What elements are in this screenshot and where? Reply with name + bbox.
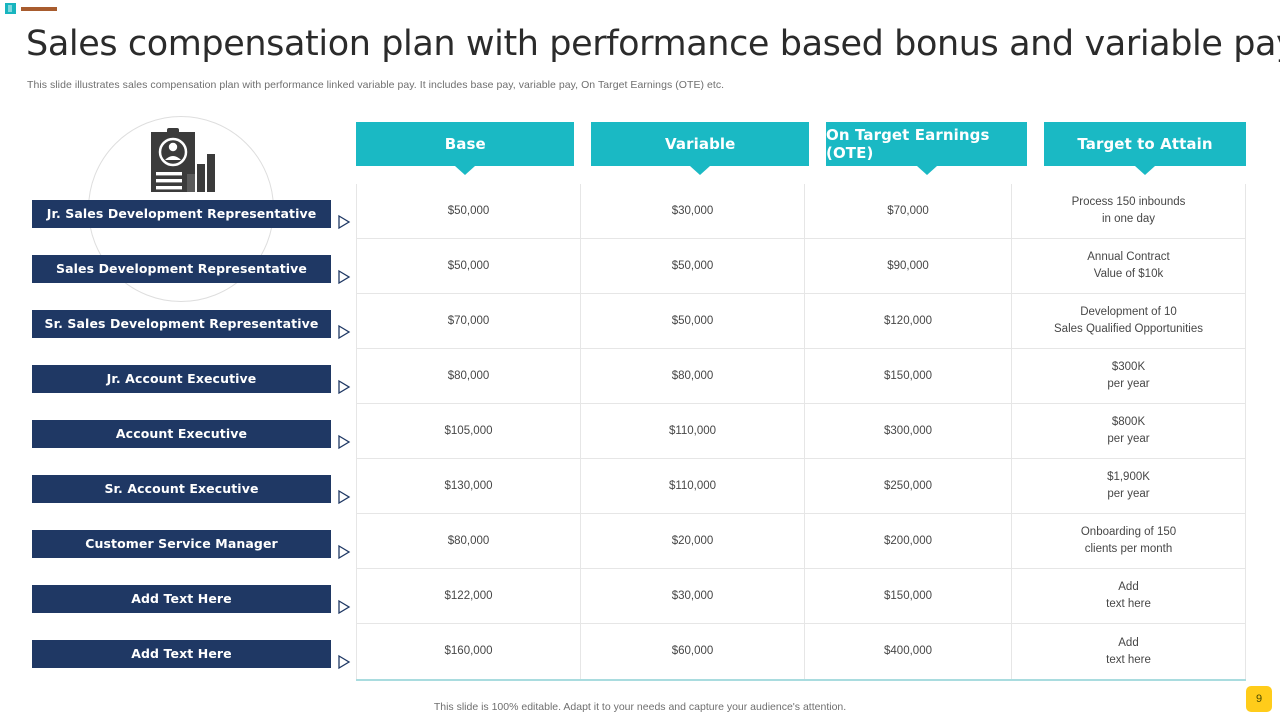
cell-ote: $150,000 xyxy=(805,569,1012,623)
rail-item-4[interactable]: Account Executive xyxy=(32,420,331,448)
cell-variable: $30,000 xyxy=(581,184,805,238)
rail-row: Account Executive xyxy=(0,406,355,461)
brand-bar-icon xyxy=(21,7,57,11)
table-row: $130,000 $110,000 $250,000 $1,900K per y… xyxy=(356,459,1246,514)
cell-variable: $110,000 xyxy=(581,459,805,513)
cell-target: Onboarding of 150 clients per month xyxy=(1012,514,1246,568)
cell-target-line1: $300K xyxy=(1107,359,1149,376)
page-subtitle: This slide illustrates sales compensatio… xyxy=(27,79,724,91)
slide-root: Sales compensation plan with performance… xyxy=(0,0,1280,720)
cell-base: $50,000 xyxy=(356,184,581,238)
table-header-row: Base Variable On Target Earnings (OTE) T… xyxy=(356,122,1246,166)
rail-row: Add Text Here xyxy=(0,571,355,626)
rail-row: Add Text Here xyxy=(0,626,355,681)
brand-marks xyxy=(5,3,57,14)
cell-base: $105,000 xyxy=(356,404,581,458)
rail-item-7[interactable]: Add Text Here xyxy=(32,585,331,613)
rail-row: Jr. Sales Development Representative xyxy=(0,186,355,241)
cell-variable: $20,000 xyxy=(581,514,805,568)
cell-target-line2: text here xyxy=(1106,596,1151,613)
cell-target-line1: Add xyxy=(1106,635,1151,652)
cell-target: Process 150 inbounds in one day xyxy=(1012,184,1246,238)
cell-target: Annual Contract Value of $10k xyxy=(1012,239,1246,293)
page-title: Sales compensation plan with performance… xyxy=(26,24,1246,64)
cell-base: $130,000 xyxy=(356,459,581,513)
cell-base: $50,000 xyxy=(356,239,581,293)
cell-target-line1: $800K xyxy=(1107,414,1149,431)
table-row: $80,000 $20,000 $200,000 Onboarding of 1… xyxy=(356,514,1246,569)
compensation-table: Base Variable On Target Earnings (OTE) T… xyxy=(356,122,1246,166)
cell-target: Add text here xyxy=(1012,624,1246,679)
page-number-badge: 9 xyxy=(1246,686,1272,712)
cell-target: $300K per year xyxy=(1012,349,1246,403)
cell-target-line2: per year xyxy=(1107,486,1150,503)
cell-target-line2: Value of $10k xyxy=(1087,266,1169,283)
column-header-base[interactable]: Base xyxy=(356,122,574,166)
rail-item-0[interactable]: Jr. Sales Development Representative xyxy=(32,200,331,228)
rail-row: Sr. Sales Development Representative xyxy=(0,296,355,351)
column-header-variable[interactable]: Variable xyxy=(591,122,809,166)
cell-base: $80,000 xyxy=(356,349,581,403)
cell-base: $160,000 xyxy=(356,624,581,679)
cell-ote: $120,000 xyxy=(805,294,1012,348)
cell-variable: $50,000 xyxy=(581,294,805,348)
cell-ote: $200,000 xyxy=(805,514,1012,568)
table-row: $70,000 $50,000 $120,000 Development of … xyxy=(356,294,1246,349)
table-row: $50,000 $30,000 $70,000 Process 150 inbo… xyxy=(356,184,1246,239)
cell-target-line2: per year xyxy=(1107,431,1149,448)
rail-row: Sales Development Representative xyxy=(0,241,355,296)
cell-base: $80,000 xyxy=(356,514,581,568)
cell-target-line2: per year xyxy=(1107,376,1149,393)
cell-target-line1: Process 150 inbounds xyxy=(1072,194,1186,211)
role-rail: Jr. Sales Development Representative Sal… xyxy=(0,186,355,681)
cell-target-line2: text here xyxy=(1106,652,1151,669)
rail-item-3[interactable]: Jr. Account Executive xyxy=(32,365,331,393)
table-body: $50,000 $30,000 $70,000 Process 150 inbo… xyxy=(356,184,1246,681)
cell-variable: $50,000 xyxy=(581,239,805,293)
cell-target-line1: Development of 10 xyxy=(1054,304,1203,321)
rail-item-8[interactable]: Add Text Here xyxy=(32,640,331,668)
cell-variable: $80,000 xyxy=(581,349,805,403)
rail-item-2[interactable]: Sr. Sales Development Representative xyxy=(32,310,331,338)
rail-row: Jr. Account Executive xyxy=(0,351,355,406)
table-row: $80,000 $80,000 $150,000 $300K per year xyxy=(356,349,1246,404)
table-row: $122,000 $30,000 $150,000 Add text here xyxy=(356,569,1246,624)
cell-target-line1: Add xyxy=(1106,579,1151,596)
cell-base: $122,000 xyxy=(356,569,581,623)
cell-target-line1: Annual Contract xyxy=(1087,249,1169,266)
rail-row: Sr. Account Executive xyxy=(0,461,355,516)
table-row: $50,000 $50,000 $90,000 Annual Contract … xyxy=(356,239,1246,294)
cell-variable: $60,000 xyxy=(581,624,805,679)
table-row: $105,000 $110,000 $300,000 $800K per yea… xyxy=(356,404,1246,459)
cell-target-line1: Onboarding of 150 xyxy=(1081,524,1176,541)
cell-ote: $250,000 xyxy=(805,459,1012,513)
rail-row: Customer Service Manager xyxy=(0,516,355,571)
cell-ote: $300,000 xyxy=(805,404,1012,458)
cell-target: $800K per year xyxy=(1012,404,1246,458)
cell-target: Development of 10 Sales Qualified Opport… xyxy=(1012,294,1246,348)
cell-target-line2: clients per month xyxy=(1081,541,1176,558)
rail-item-6[interactable]: Customer Service Manager xyxy=(32,530,331,558)
table-row: $160,000 $60,000 $400,000 Add text here xyxy=(356,624,1246,679)
cell-ote: $400,000 xyxy=(805,624,1012,679)
rail-item-5[interactable]: Sr. Account Executive xyxy=(32,475,331,503)
cell-ote: $70,000 xyxy=(805,184,1012,238)
cell-variable: $30,000 xyxy=(581,569,805,623)
cell-target-line2: in one day xyxy=(1072,211,1186,228)
brand-square-icon xyxy=(5,3,16,14)
cell-ote: $90,000 xyxy=(805,239,1012,293)
cell-target: $1,900K per year xyxy=(1012,459,1246,513)
column-header-ote[interactable]: On Target Earnings (OTE) xyxy=(826,122,1027,166)
cell-target-line1: $1,900K xyxy=(1107,469,1150,486)
cell-base: $70,000 xyxy=(356,294,581,348)
rail-item-1[interactable]: Sales Development Representative xyxy=(32,255,331,283)
cell-variable: $110,000 xyxy=(581,404,805,458)
cell-target-line2: Sales Qualified Opportunities xyxy=(1054,321,1203,338)
column-header-target[interactable]: Target to Attain xyxy=(1044,122,1246,166)
cell-ote: $150,000 xyxy=(805,349,1012,403)
cell-target: Add text here xyxy=(1012,569,1246,623)
footer-note: This slide is 100% editable. Adapt it to… xyxy=(0,701,1280,713)
